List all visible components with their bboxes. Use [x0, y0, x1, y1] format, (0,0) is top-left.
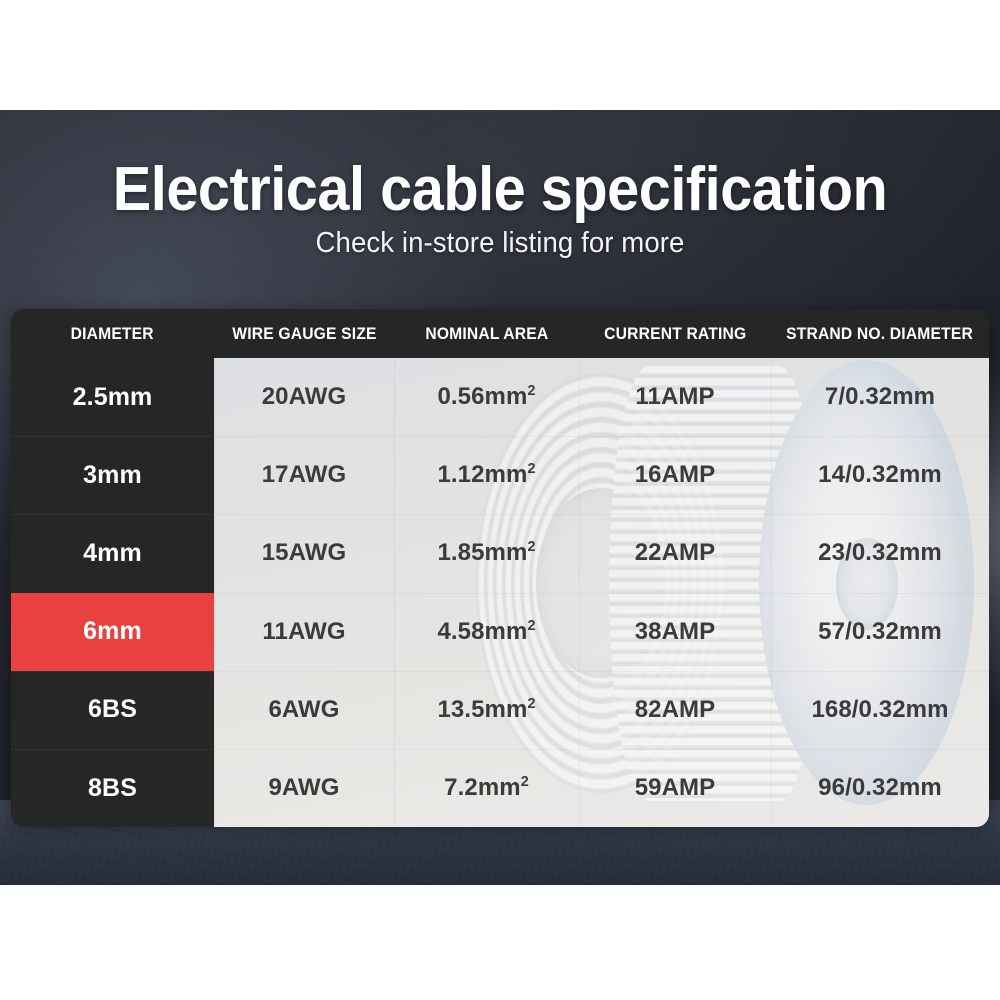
nominal-area-value: 0.56mm	[437, 383, 527, 410]
current-rating-value: 22AMP	[635, 539, 716, 567]
strand-no-diameter-cell: 14/0.32mm	[771, 436, 989, 514]
strand-no-diameter-cell: 96/0.32mm	[771, 749, 989, 827]
wire-gauge-size-value: 15AWG	[262, 539, 347, 567]
wire-gauge-size-cell: 17AWG	[214, 436, 394, 514]
wire-gauge-size-cell: 20AWG	[214, 358, 394, 436]
nominal-area-text: 1.85mm2	[437, 539, 535, 567]
current-rating-value: 82AMP	[635, 696, 716, 724]
current-rating-value: 11AMP	[635, 383, 714, 411]
wire-gauge-size-cell: 6AWG	[214, 671, 394, 749]
nominal-area-exponent: 2	[527, 618, 535, 634]
strand-no-diameter-value: 168/0.32mm	[811, 696, 948, 724]
strand-no-diameter-value: 96/0.32mm	[818, 774, 942, 802]
diameter-value: 4mm	[83, 539, 142, 568]
nominal-area-text: 13.5mm2	[437, 696, 535, 724]
nominal-area-cell: 13.5mm2	[394, 671, 579, 749]
page-title: Electrical cable specification	[35, 158, 965, 221]
nominal-area-cell: 7.2mm2	[394, 749, 579, 827]
specification-table: DIAMETERWIRE GAUGE SIZENOMINAL AREACURRE…	[11, 309, 989, 827]
nominal-area-text: 7.2mm2	[444, 774, 529, 802]
column-header-label: CURRENT RATING	[604, 324, 746, 344]
nominal-area-exponent: 2	[521, 774, 529, 790]
nominal-area-cell: 0.56mm2	[394, 358, 579, 436]
diameter-value: 6BS	[88, 695, 137, 724]
wire-gauge-size-cell: 11AWG	[214, 593, 394, 671]
wire-gauge-size-value: 17AWG	[262, 461, 347, 489]
wire-gauge-size-value: 9AWG	[268, 774, 339, 802]
diameter-value: 8BS	[88, 774, 137, 803]
nominal-area-text: 0.56mm2	[437, 383, 535, 411]
column-header-wire-gauge-size: WIRE GAUGE SIZE	[214, 309, 394, 358]
strand-no-diameter-value: 14/0.32mm	[818, 461, 942, 489]
strand-no-diameter-cell: 168/0.32mm	[771, 671, 989, 749]
current-rating-cell: 22AMP	[579, 514, 771, 592]
nominal-area-text: 1.12mm2	[437, 461, 535, 489]
current-rating-cell: 11AMP	[579, 358, 771, 436]
current-rating-value: 16AMP	[635, 461, 716, 489]
diameter-value: 3mm	[83, 461, 142, 490]
current-rating-value: 59AMP	[635, 774, 716, 802]
diameter-cell: 2.5mm	[11, 358, 214, 436]
diameter-value: 6mm	[83, 617, 142, 646]
column-header-nominal-area: NOMINAL AREA	[394, 309, 579, 358]
current-rating-cell: 59AMP	[579, 749, 771, 827]
column-header-strand-no-diameter: STRAND NO. DIAMETER	[771, 309, 989, 358]
diameter-cell: 8BS	[11, 749, 214, 827]
nominal-area-text: 4.58mm2	[437, 618, 535, 646]
nominal-area-value: 1.85mm	[437, 539, 527, 566]
nominal-area-exponent: 2	[527, 539, 535, 555]
wire-gauge-size-cell: 15AWG	[214, 514, 394, 592]
nominal-area-cell: 1.85mm2	[394, 514, 579, 592]
current-rating-cell: 16AMP	[579, 436, 771, 514]
nominal-area-value: 7.2mm	[444, 774, 521, 801]
strand-no-diameter-cell: 23/0.32mm	[771, 514, 989, 592]
column-header-label: NOMINAL AREA	[425, 324, 548, 344]
strand-no-diameter-cell: 57/0.32mm	[771, 593, 989, 671]
nominal-area-exponent: 2	[527, 461, 535, 477]
diameter-cell: 4mm	[11, 514, 214, 592]
nominal-area-value: 1.12mm	[437, 461, 527, 488]
strand-no-diameter-value: 23/0.32mm	[818, 539, 942, 567]
nominal-area-exponent: 2	[527, 383, 535, 399]
diameter-value: 2.5mm	[73, 383, 153, 412]
product-infographic: Electrical cable specification Check in-…	[0, 0, 1000, 1000]
diameter-cell: 6BS	[11, 671, 214, 749]
current-rating-cell: 82AMP	[579, 671, 771, 749]
column-header-diameter: DIAMETER	[11, 309, 214, 358]
nominal-area-value: 4.58mm	[437, 618, 527, 645]
nominal-area-value: 13.5mm	[437, 696, 527, 723]
nominal-area-cell: 4.58mm2	[394, 593, 579, 671]
specification-table-panel: DIAMETERWIRE GAUGE SIZENOMINAL AREACURRE…	[11, 309, 989, 827]
strand-no-diameter-cell: 7/0.32mm	[771, 358, 989, 436]
wire-gauge-size-value: 6AWG	[268, 696, 339, 724]
wire-gauge-size-cell: 9AWG	[214, 749, 394, 827]
current-rating-value: 38AMP	[635, 618, 716, 646]
nominal-area-cell: 1.12mm2	[394, 436, 579, 514]
current-rating-cell: 38AMP	[579, 593, 771, 671]
strand-no-diameter-value: 7/0.32mm	[825, 383, 935, 411]
heading-block: Electrical cable specification Check in-…	[0, 158, 1000, 260]
diameter-cell-highlighted: 6mm	[11, 593, 214, 671]
wire-gauge-size-value: 20AWG	[262, 383, 347, 411]
diameter-cell: 3mm	[11, 436, 214, 514]
column-header-label: WIRE GAUGE SIZE	[232, 324, 376, 344]
wire-gauge-size-value: 11AWG	[262, 618, 345, 646]
strand-no-diameter-value: 57/0.32mm	[818, 618, 942, 646]
column-header-label: STRAND NO. DIAMETER	[787, 324, 974, 344]
column-header-label: DIAMETER	[71, 324, 154, 344]
column-header-current-rating: CURRENT RATING	[579, 309, 771, 358]
page-subtitle: Check in-store listing for more	[25, 227, 975, 260]
nominal-area-exponent: 2	[527, 696, 535, 712]
